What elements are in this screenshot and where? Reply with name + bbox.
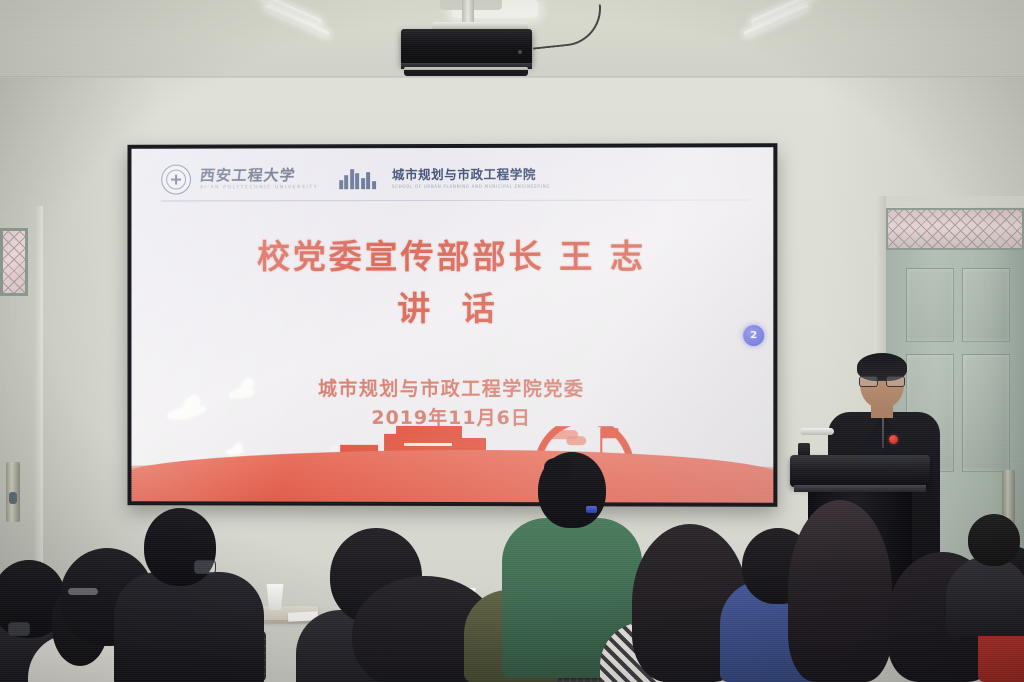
slide-title-line2: 讲 话 — [131, 282, 773, 330]
door-panel — [906, 268, 954, 342]
lectern-lip — [794, 485, 926, 492]
slide-subtitle: 城市规划与市政工程学院党委 — [131, 374, 773, 402]
attendee-head — [968, 514, 1020, 566]
hair-tie — [68, 588, 98, 595]
transom-lattice — [888, 210, 1022, 248]
flag-shape — [602, 428, 618, 438]
door-panel — [962, 354, 1010, 472]
attendee-ponytail — [544, 458, 572, 482]
building-window-row — [404, 443, 452, 446]
cityscape-graphic — [131, 426, 773, 503]
door-right-header — [874, 196, 1024, 207]
notification-badge-icon[interactable]: 2 — [743, 325, 764, 346]
attendee-head — [788, 500, 892, 682]
attendee-body — [114, 572, 264, 682]
school-name-block: 城市规划与市政工程学院 SCHOOL OF URBAN PLANNING AND… — [392, 169, 550, 189]
glasses-icon — [194, 560, 216, 574]
lecture-hall-photo: 西安工程大学 XI'AN POLYTECHNIC UNIVERSITY 城市规划… — [0, 0, 1024, 682]
projector-indicator — [518, 50, 522, 54]
door-right-transom — [886, 208, 1024, 250]
door-left-window — [0, 228, 28, 296]
door-panel — [962, 268, 1010, 342]
attendee-body — [946, 556, 1024, 636]
university-emblem-icon — [161, 165, 191, 195]
attendee-head — [144, 508, 216, 586]
microphone-head-icon — [800, 428, 834, 435]
glasses-icon — [859, 376, 905, 385]
university-name-block: 西安工程大学 XI'AN POLYTECHNIC UNIVERSITY — [200, 168, 318, 191]
hair-clip-icon — [586, 506, 597, 513]
lapel-pin-icon — [889, 435, 898, 444]
school-name-en: SCHOOL OF URBAN PLANNING AND MUNICIPAL E… — [392, 185, 550, 189]
university-name-en: XI'AN POLYTECHNIC UNIVERSITY — [200, 186, 318, 191]
slide-title-line1: 校党委宣传部部长 王 志 — [131, 230, 773, 279]
building-shape — [406, 426, 450, 428]
school-logo-icon — [339, 169, 376, 189]
door-left-lattice — [3, 231, 25, 293]
glasses-icon — [8, 622, 30, 636]
slide-header: 西安工程大学 XI'AN POLYTECHNIC UNIVERSITY 城市规划… — [161, 161, 749, 196]
projection-screen: 西安工程大学 XI'AN POLYTECHNIC UNIVERSITY 城市规划… — [128, 143, 778, 507]
ground-curve-front — [131, 449, 773, 502]
projector-lens — [404, 70, 528, 76]
university-name-cn: 西安工程大学 — [199, 168, 319, 183]
door-left-lock[interactable] — [9, 492, 17, 504]
slide-content: 西安工程大学 XI'AN POLYTECHNIC UNIVERSITY 城市规划… — [131, 147, 773, 503]
lectern-top — [790, 455, 930, 487]
school-name-cn: 城市规划与市政工程学院 — [392, 169, 550, 182]
projector-body — [401, 29, 532, 65]
slide-header-divider — [161, 199, 749, 201]
